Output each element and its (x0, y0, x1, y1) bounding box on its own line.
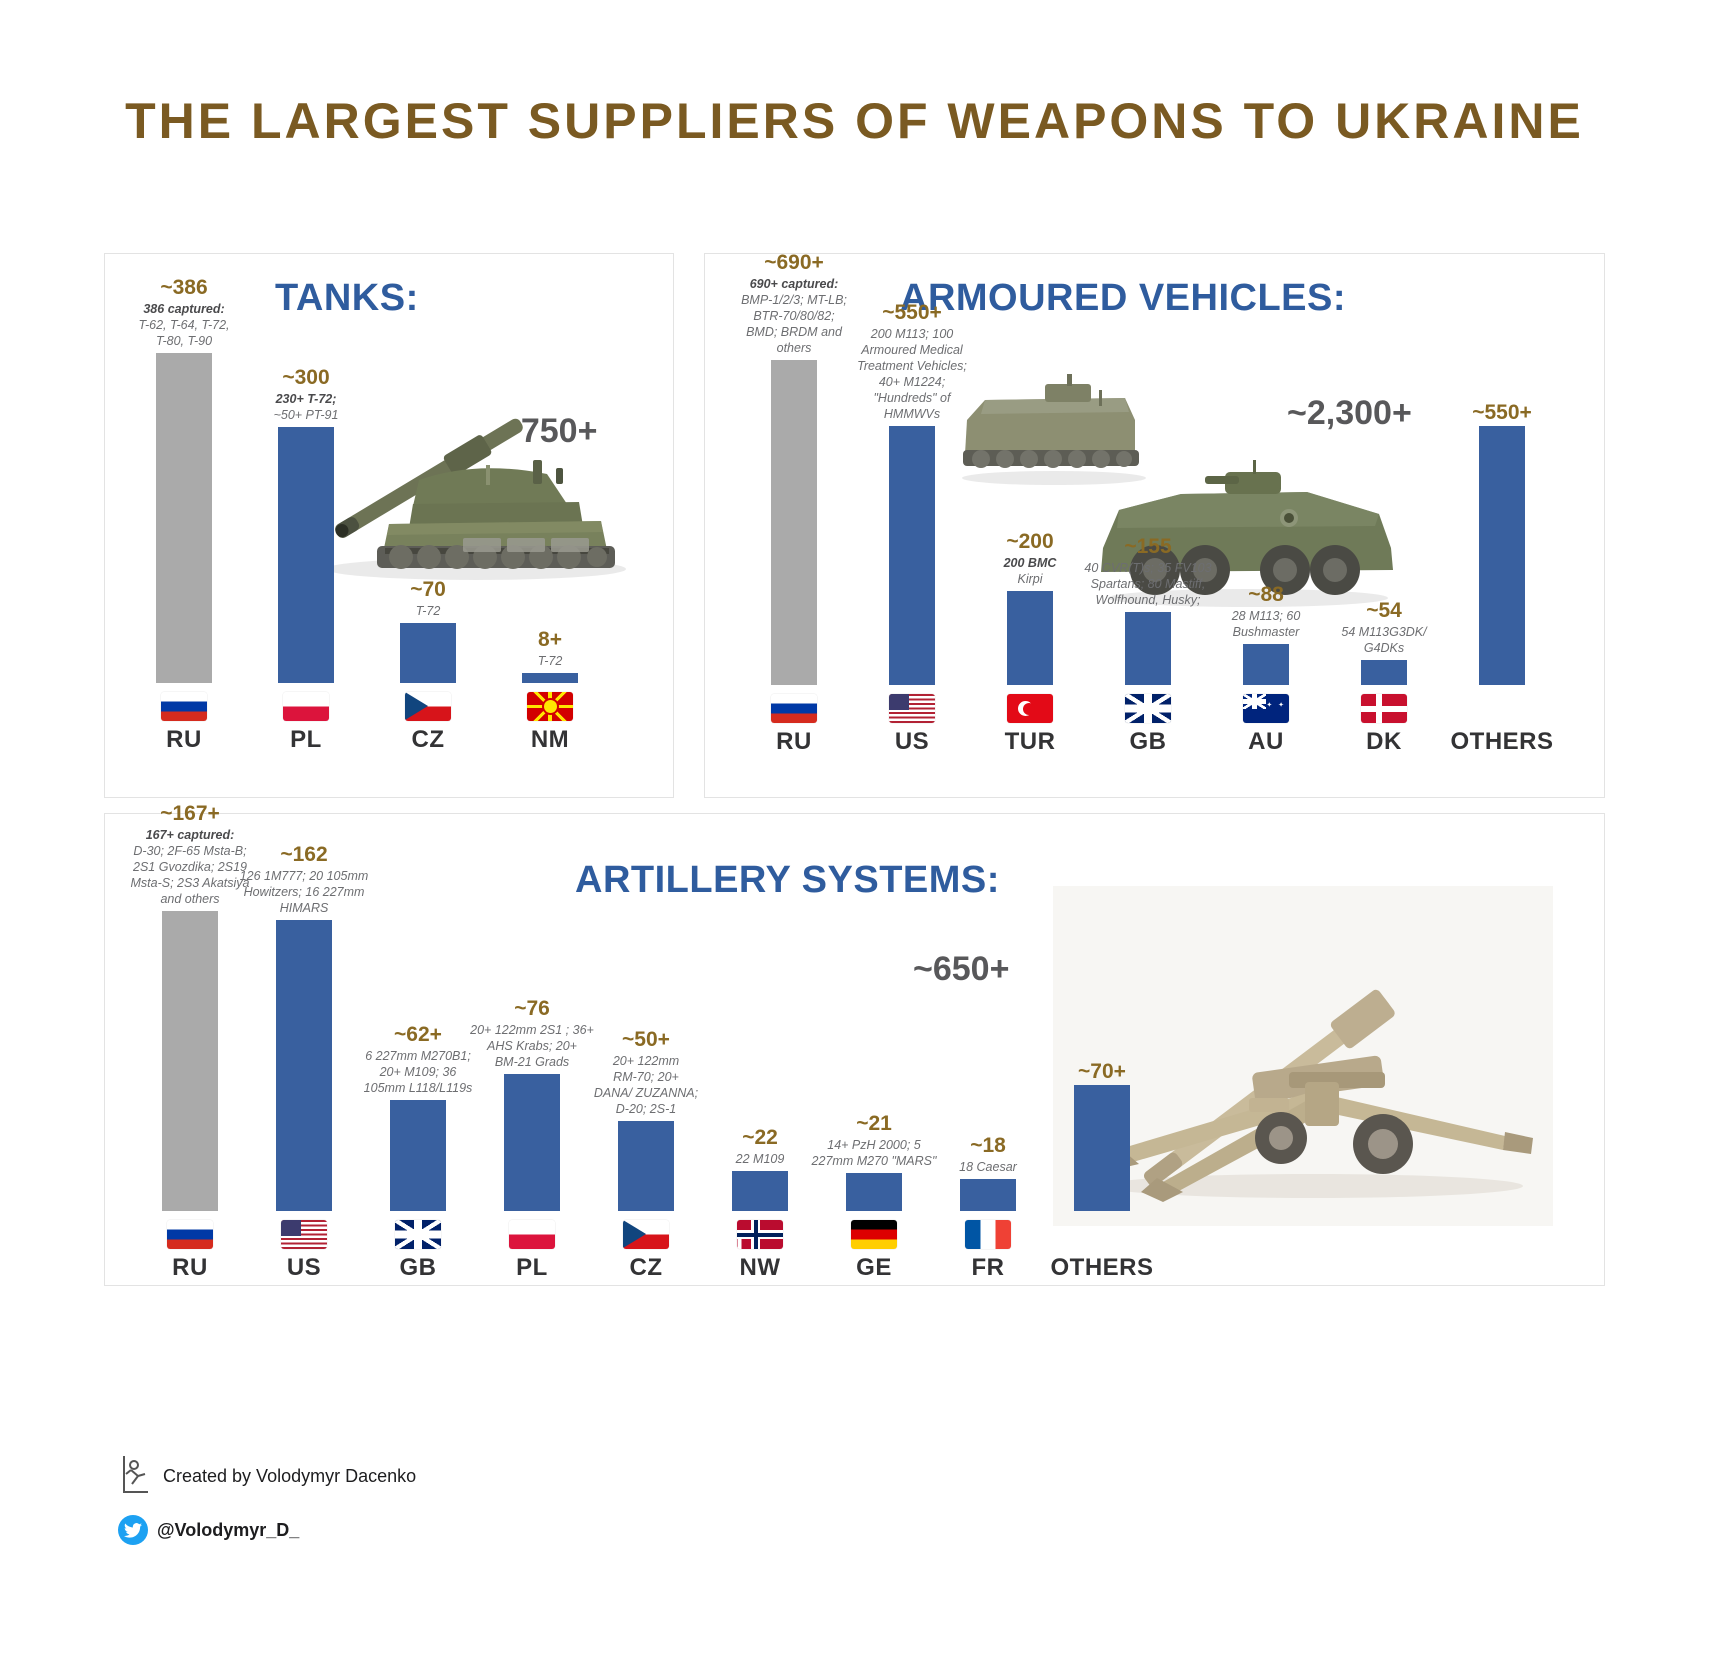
artillery-bar-ge (846, 1173, 902, 1211)
artillery-column-gb: ~62+6 227mm M270B1;20+ M109; 36105mm L11… (361, 1023, 475, 1282)
tanks-column-pl: ~300230+ T-72;~50+ PT-91PL (245, 366, 367, 754)
armour-value-tur: ~200 (1006, 530, 1053, 553)
armour-bar-tur (1007, 591, 1053, 685)
armour-category-label-ru: RU (776, 728, 812, 756)
armour-column-au: ~8828 M113; 60BushmasterAU (1207, 583, 1325, 756)
armour-category-label-dk: DK (1366, 728, 1402, 756)
artist-logo-icon (118, 1452, 154, 1501)
armour-value-us: ~550+ (882, 301, 942, 324)
flag-icon-au (1243, 694, 1289, 723)
panel-armoured-vehicles: ARMOURED VEHICLES: ~2,300+ (704, 253, 1605, 798)
flag-icon-nw (737, 1220, 783, 1249)
flag-icon-cz (405, 692, 451, 721)
tanks-bar-nm (522, 673, 578, 683)
tanks-column-nm: 8+T-72NM (489, 628, 611, 754)
armour-bar-dk (1361, 660, 1407, 685)
armour-sublabel-dk: 54 M113G3DK/G4DKs (1317, 624, 1451, 656)
armour-value-others: ~550+ (1472, 401, 1532, 424)
armour-sublabel-au: 28 M113; 60Bushmaster (1199, 608, 1333, 640)
tanks-bar-cz (400, 623, 456, 683)
armour-category-label-gb: GB (1130, 728, 1167, 756)
artillery-bar-pl (504, 1074, 560, 1211)
artillery-sublabel-cz: 20+ 122mmRM-70; 20+DANA/ ZUZANNA;D-20; 2… (578, 1053, 714, 1117)
armour-sublabel-gb: 40 CVR(T)s; 35 FV103Spartans; 80 Mastiff… (1081, 560, 1215, 608)
flag-icon-gb (395, 1220, 441, 1249)
armour-sublabel-ru: 690+ captured:BMP-1/2/3; MT-LB;BTR-70/80… (727, 276, 861, 356)
flag-icon-ru (771, 694, 817, 723)
flag-icon-pl (283, 692, 329, 721)
flag-icon-ge (851, 1220, 897, 1249)
flag-icon-ru (161, 692, 207, 721)
tanks-value-pl: ~300 (282, 366, 329, 389)
footer-credit-text: Created by Volodymyr Dacenko (163, 1466, 416, 1487)
tanks-column-ru: ~386386 captured:T-62, T-64, T-72,T-80, … (123, 276, 245, 754)
artillery-category-label-us: US (287, 1254, 321, 1282)
artillery-value-pl: ~76 (514, 997, 550, 1020)
flag-icon-us (889, 694, 935, 723)
panel-title-tanks: TANKS: (275, 277, 419, 320)
panel-tanks: TANKS: ~750+ (104, 253, 674, 798)
artillery-column-fr: ~1818 CaesarFR (931, 1134, 1045, 1282)
artillery-bar-others (1074, 1085, 1130, 1211)
flag-icon-us (281, 1220, 327, 1249)
tanks-value-cz: ~70 (410, 578, 446, 601)
artillery-bar-ru (162, 911, 218, 1211)
footer-credit-row: Created by Volodymyr Dacenko (118, 1452, 416, 1501)
tanks-bar-pl (278, 427, 334, 683)
armour-bar-au (1243, 644, 1289, 685)
flag-icon-dk (1361, 694, 1407, 723)
armour-column-others: ~550+OTHERS (1443, 401, 1561, 756)
tanks-sublabel-cz: T-72 (353, 603, 503, 619)
armour-value-ru: ~690+ (764, 251, 824, 274)
artillery-column-nw: ~2222 M109NW (703, 1126, 817, 1282)
artillery-column-us: ~162126 1M777; 20 105mmHowitzers; 16 227… (247, 843, 361, 1282)
armour-sublabel-tur: 200 BMCKirpi (963, 555, 1097, 587)
flag-icon-gb (1125, 694, 1171, 723)
artillery-category-label-cz: CZ (630, 1254, 663, 1282)
tanks-sublabel-ru: 386 captured:T-62, T-64, T-72,T-80, T-90 (109, 301, 259, 349)
flag-icon-pl (509, 1220, 555, 1249)
artillery-column-cz: ~50+20+ 122mmRM-70; 20+DANA/ ZUZANNA;D-2… (589, 1028, 703, 1282)
armour-bar-ru (771, 360, 817, 685)
tanks-value-ru: ~386 (160, 276, 207, 299)
artillery-category-label-ru: RU (172, 1254, 208, 1282)
armour-category-label-others: OTHERS (1450, 728, 1553, 756)
armour-category-label-au: AU (1248, 728, 1284, 756)
tanks-category-label-ru: RU (166, 726, 202, 754)
artillery-category-label-ge: GE (856, 1254, 892, 1282)
page-title: THE LARGEST SUPPLIERS OF WEAPONS TO UKRA… (0, 0, 1709, 151)
artillery-value-cz: ~50+ (622, 1028, 670, 1051)
artillery-bar-nw (732, 1171, 788, 1211)
artillery-value-others: ~70+ (1078, 1060, 1126, 1083)
twitter-bird-icon[interactable] (118, 1515, 148, 1545)
armour-bar-us (889, 426, 935, 685)
armour-value-dk: ~54 (1366, 599, 1402, 622)
armour-column-us: ~550+200 M113; 100Armoured MedicalTreatm… (853, 301, 971, 756)
armour-column-tur: ~200200 BMCKirpiTUR (971, 530, 1089, 756)
tanks-category-label-cz: CZ (412, 726, 445, 754)
flag-icon-cz (623, 1220, 669, 1249)
footer: Created by Volodymyr Dacenko @Volodymyr_… (118, 1452, 416, 1559)
artillery-column-ru: ~167+167+ captured:D-30; 2F-65 Msta-B;2S… (133, 802, 247, 1282)
armour-category-label-tur: TUR (1005, 728, 1056, 756)
armour-column-ru: ~690+690+ captured:BMP-1/2/3; MT-LB;BTR-… (735, 251, 853, 756)
armour-bar-gb (1125, 612, 1171, 685)
artillery-bar-gb (390, 1100, 446, 1211)
armour-bar-others (1479, 426, 1525, 685)
artillery-bar-group: ~167+167+ captured:D-30; 2F-65 Msta-B;2S… (133, 834, 1193, 1282)
armour-sublabel-us: 200 M113; 100Armoured MedicalTreatment V… (845, 326, 979, 422)
infographic-page: THE LARGEST SUPPLIERS OF WEAPONS TO UKRA… (0, 0, 1709, 1655)
artillery-category-label-nw: NW (740, 1254, 781, 1282)
armour-category-label-us: US (895, 728, 929, 756)
artillery-sublabel-us: 126 1M777; 20 105mmHowitzers; 16 227mmHI… (236, 868, 372, 916)
artillery-value-gb: ~62+ (394, 1023, 442, 1046)
armour-value-au: ~88 (1248, 583, 1284, 606)
artillery-value-fr: ~18 (970, 1134, 1006, 1157)
flag-icon-tur (1007, 694, 1053, 723)
tanks-value-nm: 8+ (538, 628, 562, 651)
artillery-value-us: ~162 (280, 843, 327, 866)
twitter-handle-text[interactable]: @Volodymyr_D_ (157, 1520, 299, 1541)
tanks-category-label-nm: NM (531, 726, 569, 754)
artillery-value-ru: ~167+ (160, 802, 220, 825)
artillery-column-others: ~70+OTHERS (1045, 1060, 1159, 1282)
tanks-bar-ru (156, 353, 212, 683)
armour-column-gb: ~15540 CVR(T)s; 35 FV103Spartans; 80 Mas… (1089, 535, 1207, 756)
artillery-bar-fr (960, 1179, 1016, 1211)
armour-value-gb: ~155 (1124, 535, 1171, 558)
armour-column-dk: ~5454 M113G3DK/G4DKsDK (1325, 599, 1443, 756)
artillery-sublabel-fr: 18 Caesar (920, 1159, 1056, 1175)
artillery-category-label-fr: FR (972, 1254, 1005, 1282)
artillery-value-nw: ~22 (742, 1126, 778, 1149)
artillery-category-label-pl: PL (516, 1254, 548, 1282)
panel-artillery-systems: ARTILLERY SYSTEMS: ~650+ (104, 813, 1605, 1286)
artillery-bar-us (276, 920, 332, 1211)
tanks-bar-group: ~386386 captured:T-62, T-64, T-72,T-80, … (123, 324, 655, 754)
flag-icon-ru (167, 1220, 213, 1249)
flag-icon-fr (965, 1220, 1011, 1249)
tanks-sublabel-nm: T-72 (475, 653, 625, 669)
footer-twitter-row[interactable]: @Volodymyr_D_ (118, 1515, 416, 1545)
tanks-column-cz: ~70T-72CZ (367, 578, 489, 754)
artillery-bar-cz (618, 1121, 674, 1211)
artillery-category-label-gb: GB (400, 1254, 437, 1282)
tanks-sublabel-pl: 230+ T-72;~50+ PT-91 (231, 391, 381, 423)
artillery-column-pl: ~7620+ 122mm 2S1 ; 36+AHS Krabs; 20+BM-2… (475, 997, 589, 1282)
artillery-category-label-others: OTHERS (1050, 1254, 1153, 1282)
flag-icon-nm (527, 692, 573, 721)
artillery-column-ge: ~2114+ PzH 2000; 5227mm M270 "MARS"GE (817, 1112, 931, 1282)
tanks-category-label-pl: PL (290, 726, 322, 754)
artillery-value-ge: ~21 (856, 1112, 892, 1135)
armour-bar-group: ~690+690+ captured:BMP-1/2/3; MT-LB;BTR-… (735, 316, 1591, 756)
